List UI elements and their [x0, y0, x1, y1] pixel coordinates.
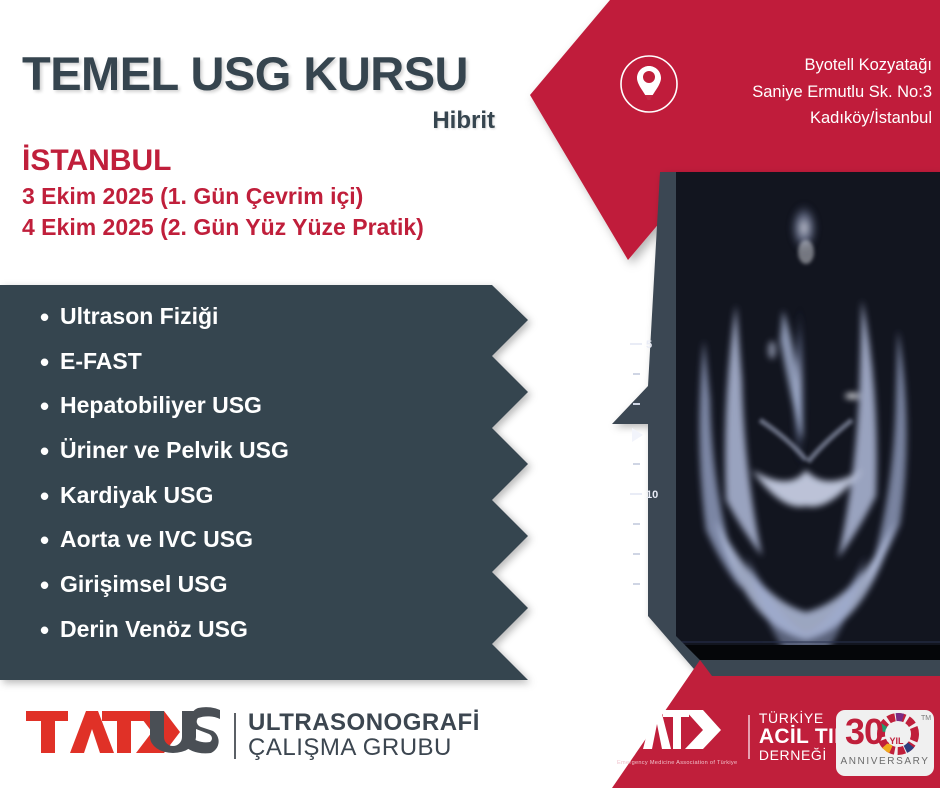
list-item: • Aorta ve IVC USG: [40, 528, 470, 553]
venue-line-1: Byotell Kozyatağı: [700, 52, 932, 79]
list-item: • Kardiyak USG: [40, 484, 470, 509]
list-item-label: Aorta ve IVC USG: [60, 528, 470, 551]
ultrasound-depth-scale: 5 10: [614, 336, 660, 596]
tatdus-logo: ULTRASONOGRAFİ ÇALIŞMA GRUBU: [24, 707, 480, 764]
title-block: TEMEL USG KURSU Hibrit: [22, 50, 522, 135]
bullet-icon: •: [40, 350, 60, 375]
bullet-icon: •: [40, 305, 60, 330]
list-item-label: Ultrason Fiziği: [60, 305, 470, 328]
list-item: • Derin Venöz USG: [40, 618, 470, 643]
logo-divider: [748, 715, 750, 759]
anniversary-number: 30: [845, 714, 883, 750]
anniversary-yil-label: .YIL: [887, 736, 904, 746]
city-name: İSTANBUL: [22, 145, 424, 177]
topics-list: • Ultrason Fiziği • E-FAST • Hepatobiliy…: [40, 305, 470, 663]
bullet-icon: •: [40, 439, 60, 464]
bullet-icon: •: [40, 528, 60, 553]
list-item-label: E-FAST: [60, 350, 470, 373]
page-title: TEMEL USG KURSU: [22, 50, 522, 97]
tatd-tagline: TÜRKİYE ACİL TIP DERNEĞİ: [759, 711, 849, 762]
list-item: • Üriner ve Pelvik USG: [40, 439, 470, 464]
tatdus-tagline-line-1: ULTRASONOGRAFİ: [248, 711, 480, 735]
bullet-icon: •: [40, 394, 60, 419]
venue-line-2: Saniye Ermutlu Sk. No:3: [700, 79, 932, 106]
venue-address: Byotell Kozyatağı Saniye Ermutlu Sk. No:…: [700, 52, 932, 132]
poster-canvas: TEMEL USG KURSU Hibrit İSTANBUL 3 Ekim 2…: [0, 0, 940, 788]
date-line-2: 4 Ekim 2025 (2. Gün Yüz Yüze Pratik): [22, 212, 424, 244]
list-item: • Hepatobiliyer USG: [40, 394, 470, 419]
tatd-mark-wrap: Emergency Medicine Association of Türkiy…: [617, 708, 737, 766]
list-item-label: Hepatobiliyer USG: [60, 394, 470, 417]
city-and-dates: İSTANBUL 3 Ekim 2025 (1. Gün Çevrim içi)…: [22, 145, 424, 244]
bullet-icon: •: [40, 573, 60, 598]
tatd-mark-svg: [617, 708, 729, 752]
list-item: • E-FAST: [40, 350, 470, 375]
anniversary-badge: 30 .YIL TM ANNIVERSARY: [836, 710, 934, 776]
anniversary-word: ANNIVERSARY: [836, 756, 934, 767]
list-item-label: Üriner ve Pelvik USG: [60, 439, 470, 462]
tatdus-mark-svg: [24, 707, 220, 757]
list-item-label: Kardiyak USG: [60, 484, 470, 507]
list-item-label: Derin Venöz USG: [60, 618, 470, 641]
tatd-mark-subtitle: Emergency Medicine Association of Türkiy…: [617, 760, 737, 766]
svg-text:10: 10: [646, 489, 658, 501]
list-item: • Ultrason Fiziği: [40, 305, 470, 330]
ultrasound-image: [660, 165, 940, 677]
tatd-tagline-line-2: ACİL TIP: [759, 726, 849, 748]
bullet-icon: •: [40, 618, 60, 643]
bullet-icon: •: [40, 484, 60, 509]
date-line-1: 3 Ekim 2025 (1. Gün Çevrim içi): [22, 181, 424, 213]
format-subtitle: Hibrit: [22, 107, 495, 135]
footer-dark-ledge: [700, 660, 940, 676]
tatdus-tagline: ULTRASONOGRAFİ ÇALIŞMA GRUBU: [248, 711, 480, 760]
tatdus-wordmark: [24, 707, 220, 764]
list-item-label: Girişimsel USG: [60, 573, 470, 596]
tatd-logo: Emergency Medicine Association of Türkiy…: [617, 708, 848, 766]
tatd-tagline-line-1: TÜRKİYE: [759, 711, 849, 726]
venue-line-3: Kadıköy/İstanbul: [700, 105, 932, 132]
logo-divider: [234, 713, 236, 759]
tatd-tagline-line-3: DERNEĞİ: [759, 748, 849, 763]
svg-text:5: 5: [646, 339, 652, 351]
list-item: • Girişimsel USG: [40, 573, 470, 598]
location-pin-icon: [619, 54, 679, 114]
tatdus-tagline-line-2: ÇALIŞMA GRUBU: [248, 736, 480, 760]
trademark-icon: TM: [921, 715, 931, 722]
